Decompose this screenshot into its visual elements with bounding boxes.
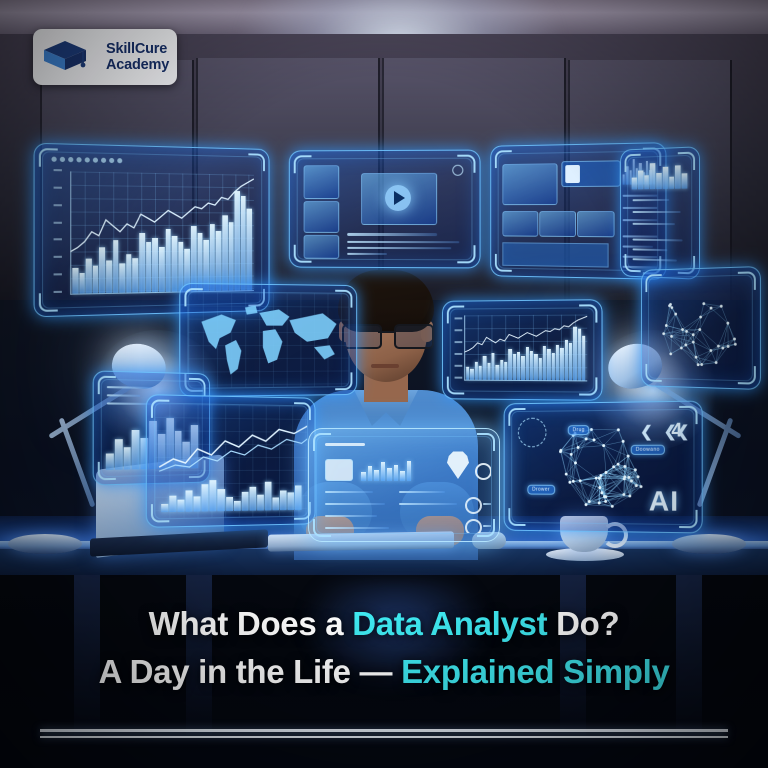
title-line-2: A Day in the Life — Explained Simply: [0, 648, 768, 696]
dashboard-hero-image: [502, 163, 557, 205]
growth-y-ticks: [455, 317, 465, 378]
title-line1-part2: Do?: [547, 605, 619, 642]
title-rule-top: [40, 729, 728, 732]
ai-dial-icon: [518, 418, 547, 448]
timeline-thumb: [539, 211, 576, 237]
timeline-thumb: [577, 211, 615, 237]
holo-panel-ai-network[interactable]: Drug Doowano Drower 4 ❮ ❮❮ AI: [504, 401, 703, 534]
list-bullet-icon: [465, 497, 482, 514]
settings-gear-icon[interactable]: [452, 165, 463, 176]
holo-panel-growth-chart[interactable]: [442, 299, 602, 401]
panel-status-dots: [51, 157, 122, 164]
chart-trend-line: [70, 171, 254, 277]
holo-panel-media-player[interactable]: [289, 150, 481, 269]
glasses-bridge: [378, 331, 394, 333]
brand-name-line1: SkillCure: [106, 41, 169, 57]
brand-name-line2: Academy: [106, 57, 169, 73]
person-mouth: [371, 364, 399, 368]
poster-title: What Does a Data Analyst Do? A Day in th…: [0, 600, 768, 696]
holo-panel-left-trend[interactable]: [146, 394, 316, 528]
audio-waveform: [502, 242, 608, 267]
stats-bars: [632, 162, 688, 189]
brand-name: SkillCure Academy: [106, 41, 169, 73]
holo-panel-stats-column[interactable]: [620, 146, 700, 280]
play-button[interactable]: [385, 185, 411, 211]
growth-plot-area: [464, 315, 587, 382]
lamp-base-right: [672, 534, 746, 554]
holo-panel-network-graph[interactable]: [641, 266, 761, 390]
title-line2-part1: A Day in the Life —: [98, 653, 401, 690]
network-node-chip: Doowano: [631, 445, 665, 455]
brand-logo[interactable]: SkillCure Academy: [33, 29, 177, 85]
title-rule-bottom: [40, 736, 728, 738]
network-node-chip: Drug: [568, 425, 590, 435]
circle-metric-icon: [475, 463, 492, 480]
graduation-cap-icon: [42, 37, 88, 77]
media-sidebar-card: [304, 165, 340, 199]
left-trend-bars: [161, 477, 301, 513]
holo-panel-center-tablet[interactable]: [308, 428, 500, 542]
ai-label: AI: [649, 485, 679, 518]
title-line-1: What Does a Data Analyst Do?: [0, 600, 768, 648]
title-line1-accent: Data Analyst: [352, 605, 547, 642]
media-sidebar-card: [304, 235, 340, 259]
title-line1-part1: What Does a: [149, 605, 353, 642]
growth-trend-line: [464, 315, 587, 365]
network-node-chip: Drower: [527, 485, 554, 495]
location-pin-icon: [447, 451, 469, 479]
poster-canvas: Drug Doowano Drower 4 ❮ ❮❮ AI: [0, 0, 768, 768]
chevron-left-icon: ❮: [640, 422, 653, 440]
network-graph-icon: [649, 276, 752, 381]
media-sidebar-card: [304, 201, 340, 233]
chevron-right-icon: ❮❮: [664, 422, 690, 440]
lamp-base-left: [8, 534, 82, 554]
timeline-thumb: [502, 211, 538, 237]
chart-y-ticks: [54, 169, 64, 293]
title-line2-accent: Explained Simply: [401, 653, 669, 690]
left-trend-lines: [155, 414, 308, 476]
glasses-lens-right: [394, 324, 434, 349]
tablet-mini-bars: [361, 459, 411, 481]
profile-card: [561, 160, 620, 187]
chart-plot-area: [70, 171, 254, 294]
avatar: [565, 165, 580, 183]
list-bullet-icon: [465, 519, 482, 534]
